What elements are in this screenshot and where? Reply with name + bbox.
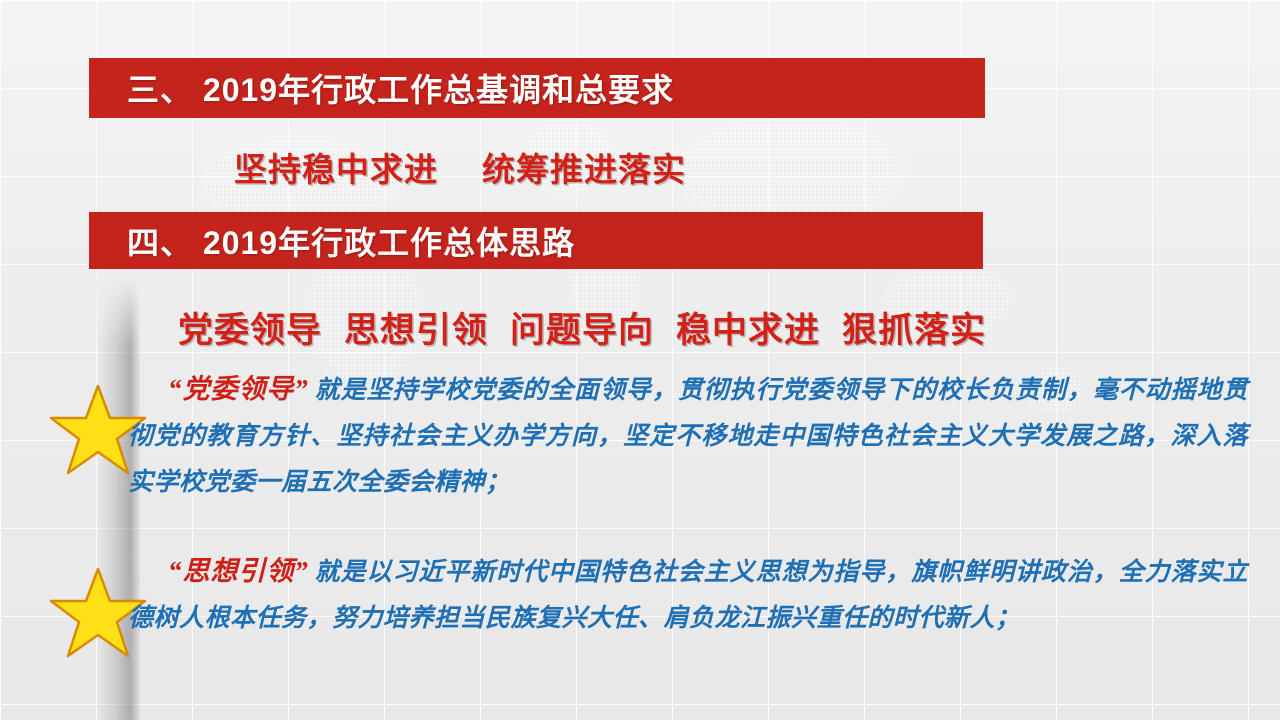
subtitle-part-two: 统筹推进落实 bbox=[482, 151, 686, 188]
section-banner-four: 四、 2019年行政工作总体思路 bbox=[89, 212, 983, 269]
keyword-item-3: 问题导向 bbox=[510, 311, 654, 350]
subtitle-part-one: 坚持稳中求进 bbox=[234, 151, 438, 188]
section-banner-four-label: 四、 2019年行政工作总体思路 bbox=[127, 218, 575, 264]
paragraph-quoted-term: “思想引领” bbox=[168, 556, 308, 586]
keyword-item-1: 党委领导 bbox=[178, 311, 322, 350]
section-banner-three: 三、 2019年行政工作总基调和总要求 bbox=[89, 58, 985, 118]
keyword-item-2: 思想引领 bbox=[344, 311, 488, 350]
section-three-subtitle: 坚持稳中求进统筹推进落实 bbox=[234, 143, 686, 191]
section-four-keywords: 党委领导思想引领问题导向稳中求进狠抓落实 bbox=[178, 302, 986, 353]
paragraph-ideological-guidance: “思想引领”就是以习近平新时代中国特色社会主义思想为指导，旗帜鲜明讲政治，全力落… bbox=[128, 548, 1248, 642]
paragraph-party-leadership: “党委领导”就是坚持学校党委的全面领导，贯彻执行党委领导下的校长负责制，毫不动摇… bbox=[128, 366, 1248, 506]
paragraph-quoted-term: “党委领导” bbox=[168, 374, 308, 404]
keyword-item-5: 狠抓落实 bbox=[842, 311, 986, 350]
keyword-item-4: 稳中求进 bbox=[676, 311, 820, 350]
presentation-slide: 三、 2019年行政工作总基调和总要求 坚持稳中求进统筹推进落实 四、 2019… bbox=[0, 0, 1280, 720]
left-shadow-fade bbox=[96, 276, 140, 346]
section-banner-three-label: 三、 2019年行政工作总基调和总要求 bbox=[127, 65, 674, 111]
